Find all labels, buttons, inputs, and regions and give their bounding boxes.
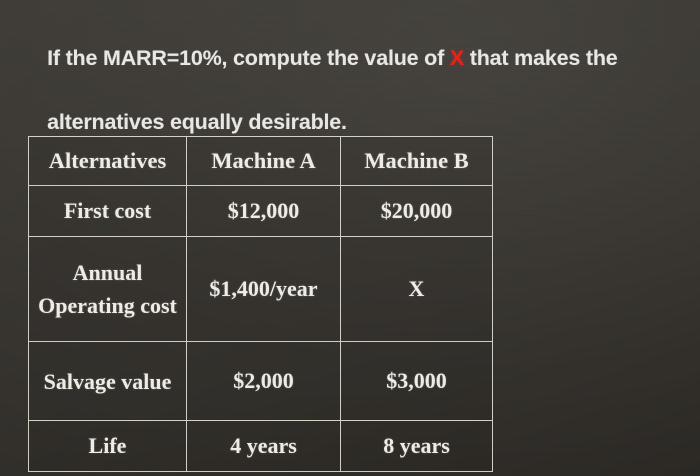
row-label-annual-operating-cost-text: Annual Operating cost xyxy=(29,256,186,322)
table-row-salvage-value: Salvage value $2,000 $3,000 xyxy=(29,342,493,421)
header-machine-a: Machine A xyxy=(187,137,341,186)
cell-annual-cost-machine-a: $1,400/year xyxy=(187,237,341,342)
row-label-salvage-value: Salvage value xyxy=(29,342,187,421)
prompt-text-before: If the MARR=10%, compute the value of xyxy=(47,46,450,70)
prompt-text-after: that makes the xyxy=(464,46,618,70)
row-label-life: Life xyxy=(29,421,187,472)
cell-salvage-machine-a: $2,000 xyxy=(187,342,341,421)
prompt-line-two: alternatives equally desirable. xyxy=(47,110,347,134)
screen-capture: If the MARR=10%, compute the value of X … xyxy=(0,0,700,476)
table-header-row: Alternatives Machine A Machine B xyxy=(29,137,493,186)
cell-first-cost-machine-b: $20,000 xyxy=(341,186,493,237)
cell-life-machine-a: 4 years xyxy=(187,421,341,472)
row-label-annual-operating-cost: Annual Operating cost xyxy=(29,237,187,342)
table-row-annual-operating-cost: Annual Operating cost $1,400/year X xyxy=(29,237,493,342)
alternatives-table: Alternatives Machine A Machine B First c… xyxy=(28,136,493,472)
table-row-life: Life 4 years 8 years xyxy=(29,421,493,472)
cell-first-cost-machine-a: $12,000 xyxy=(187,186,341,237)
cell-life-machine-b: 8 years xyxy=(341,421,493,472)
row-label-salvage-value-text: Salvage value xyxy=(29,365,186,398)
header-machine-b: Machine B xyxy=(341,137,493,186)
table-row-first-cost: First cost $12,000 $20,000 xyxy=(29,186,493,237)
unknown-variable-x: X xyxy=(450,46,464,70)
cell-annual-cost-machine-b-unknown-x: X xyxy=(341,237,493,342)
header-alternatives: Alternatives xyxy=(29,137,187,186)
cell-salvage-machine-b: $3,000 xyxy=(341,342,493,421)
row-label-first-cost: First cost xyxy=(29,186,187,237)
